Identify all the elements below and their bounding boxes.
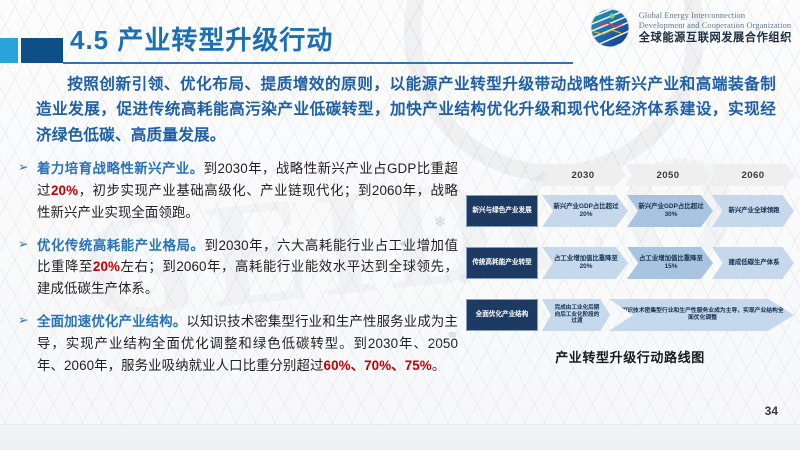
header-accent-light <box>0 38 18 63</box>
intro-paragraph: 按照创新引领、优化布局、提质增效的原则，以能源产业转型升级带动战略性新兴产业和高… <box>36 72 776 148</box>
page-number: 34 <box>765 404 778 418</box>
year-chevron-2060: 2060 <box>710 164 796 186</box>
slide-canvas: GEIDCO 4.5 产业转型升级行动 <box>0 0 800 450</box>
row-label-structure-optimize: 全面优化产业结构 <box>466 299 538 331</box>
row-label-traditional-transform: 传统高耗能产业转型 <box>466 247 538 279</box>
row2-step-2060: 建成低碳生产体系 <box>712 247 794 279</box>
row-label-emerging-green: 新兴与绿色产业发展 <box>466 195 538 227</box>
year-header-row: 2030 2050 2060 <box>540 164 794 188</box>
globe-logo-icon <box>588 6 632 50</box>
roadmap-row: 全面优化产业结构 完成由工业化后期向后工业化阶段的过渡 知识技术密集型行业和生产… <box>466 295 794 335</box>
bullet-lead: 着力培育战略性新兴产业。 <box>37 161 204 176</box>
row3-step-2: 知识技术密集型行业和生产性服务业成为主导，实现产业结构全面优化调整 <box>609 299 794 331</box>
bottom-band <box>0 424 800 450</box>
year-chevron-2050: 2050 <box>625 164 711 186</box>
bullet-arrow-icon: ➢ <box>18 237 28 252</box>
bullet-list: ➢ 着力培育战略性新兴产业。到2030年，战略性新兴产业占GDP比重超过20%，… <box>18 158 458 388</box>
bullet-lead: 全面加速优化产业结构。 <box>37 314 186 329</box>
bullet-percent-1: 20% <box>51 183 78 198</box>
bullet-lead: 优化传统高耗能产业格局。 <box>37 238 205 253</box>
bullet-arrow-icon: ➢ <box>18 313 28 328</box>
slide-header: 4.5 产业转型升级行动 <box>0 0 800 68</box>
roadmap-row: 新兴与绿色产业发展 新兴产业GDP占比超过20% 新兴产业GDP占比超过30% … <box>466 191 794 231</box>
row2-step-2030: 占工业增加值比重降至20% <box>542 247 628 279</box>
list-item: ➢ 着力培育战略性新兴产业。到2030年，战略性新兴产业占GDP比重超过20%，… <box>18 158 458 224</box>
organization-logo: Global Energy Interconnection Developmen… <box>588 6 792 50</box>
bullet-text: 全面加速优化产业结构。以知识技术密集型行业和生产性服务业成为主导，实现产业结构全… <box>37 311 458 377</box>
logo-english-line2: Development and Cooperation Organization <box>639 21 792 30</box>
header-accent-dark <box>21 38 63 63</box>
page-title: 4.5 产业转型升级行动 <box>70 20 333 57</box>
triangle-icon: ◂ <box>399 235 406 251</box>
header-underline <box>63 62 573 64</box>
row3-step-1: 完成由工业化后期向后工业化阶段的过渡 <box>542 299 610 331</box>
row2-step-2050: 占工业增加值比重降至15% <box>627 247 713 279</box>
roadmap-row: 传统高耗能产业转型 占工业增加值比重降至20% 占工业增加值比重降至15% 建成… <box>466 243 794 283</box>
list-item: ➢ 全面加速优化产业结构。以知识技术密集型行业和生产性服务业成为主导，实现产业结… <box>18 311 458 377</box>
logo-chinese-name: 全球能源互联网发展合作组织 <box>639 32 792 45</box>
logo-english-line1: Global Energy Interconnection <box>639 11 792 20</box>
bullet-seg2: ，初步实现产业基础高级化、产业链现代化；到2060年，战略性新兴产业实现全面领跑… <box>37 183 458 220</box>
list-item: ➢ 优化传统高耗能产业格局。到2030年，六大高耗能行业占工业增加值比重降至20… <box>18 235 458 301</box>
roadmap-diagram: 2030 2050 2060 新兴与绿色产业发展 新兴产业GDP占比超过20% … <box>466 164 794 366</box>
row1-step-2050: 新兴产业GDP占比超过30% <box>627 195 713 227</box>
row1-step-2030: 新兴产业GDP占比超过20% <box>542 195 628 227</box>
bullet-text: 优化传统高耗能产业格局。到2030年，六大高耗能行业占工业增加值比重降至20%左… <box>37 235 458 301</box>
row1-step-2060: 新兴产业全球领跑 <box>712 195 794 227</box>
roadmap-rows: 新兴与绿色产业发展 新兴产业GDP占比超过20% 新兴产业GDP占比超过30% … <box>466 191 794 335</box>
bullet-text: 着力培育战略性新兴产业。到2030年，战略性新兴产业占GDP比重超过20%，初步… <box>37 158 458 224</box>
diagram-caption: 产业转型升级行动路线图 <box>466 347 794 366</box>
globe-hand-icon: ⚭ <box>446 326 459 344</box>
bullet-percent-1: 60%、70%、75% <box>324 358 432 373</box>
bullet-seg2: 。 <box>432 358 446 373</box>
leaf-icon: ❄ <box>434 213 447 231</box>
bullet-percent-1: 20% <box>93 259 120 274</box>
bullet-arrow-icon: ➢ <box>18 160 28 175</box>
year-chevron-2030: 2030 <box>540 164 626 186</box>
triangle-icon: ◇ <box>432 334 442 350</box>
